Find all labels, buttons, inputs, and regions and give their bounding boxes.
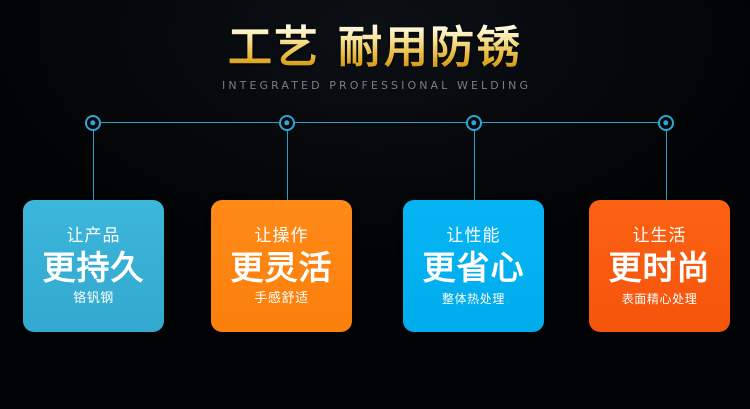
banner-header: 工艺耐用防锈 INTEGRATED PROFESSIONAL WELDING xyxy=(0,22,750,93)
connector-node-2 xyxy=(279,115,295,131)
page-subtitle: INTEGRATED PROFESSIONAL WELDING xyxy=(0,79,750,93)
title-part-1: 工艺 xyxy=(228,22,320,73)
connector-drop-line-2 xyxy=(287,123,288,201)
feature-card-4-sub: 表面精心处理 xyxy=(622,290,698,308)
feature-card-4-top: 让生活 xyxy=(633,225,687,247)
connector-node-4 xyxy=(658,115,674,131)
feature-card-2-sub: 手感舒适 xyxy=(254,290,308,308)
feature-card-3-top: 让性能 xyxy=(447,225,501,247)
feature-card-2[interactable]: 让操作 更灵活 手感舒适 xyxy=(211,200,352,332)
feature-card-2-main: 更灵活 xyxy=(231,248,333,288)
feature-card-1-main: 更持久 xyxy=(43,248,145,288)
feature-card-1[interactable]: 让产品 更持久 铬钒钢 xyxy=(23,200,164,332)
connector-drop-line-4 xyxy=(666,123,667,201)
connector-node-1 xyxy=(85,115,101,131)
connector-drop-line-3 xyxy=(474,123,475,201)
feature-card-3[interactable]: 让性能 更省心 整体热处理 xyxy=(403,200,544,332)
feature-card-1-top: 让产品 xyxy=(67,225,121,247)
promo-banner: 工艺耐用防锈 INTEGRATED PROFESSIONAL WELDING 让… xyxy=(0,0,750,409)
feature-card-3-sub: 整体热处理 xyxy=(442,290,505,308)
feature-card-4-main: 更时尚 xyxy=(609,248,711,288)
feature-card-4[interactable]: 让生活 更时尚 表面精心处理 xyxy=(589,200,730,332)
feature-card-1-sub: 铬钒钢 xyxy=(73,290,114,308)
feature-card-list: 让产品 更持久 铬钒钢 让操作 更灵活 手感舒适 让性能 更省心 整体热处理 让… xyxy=(0,200,750,332)
feature-card-2-top: 让操作 xyxy=(255,225,309,247)
connector-horizontal-line xyxy=(93,122,666,123)
feature-card-3-main: 更省心 xyxy=(423,248,525,288)
connector-drop-line-1 xyxy=(93,123,94,201)
title-part-2: 耐用防锈 xyxy=(338,22,522,73)
page-title: 工艺耐用防锈 xyxy=(228,22,522,74)
connector-node-3 xyxy=(466,115,482,131)
